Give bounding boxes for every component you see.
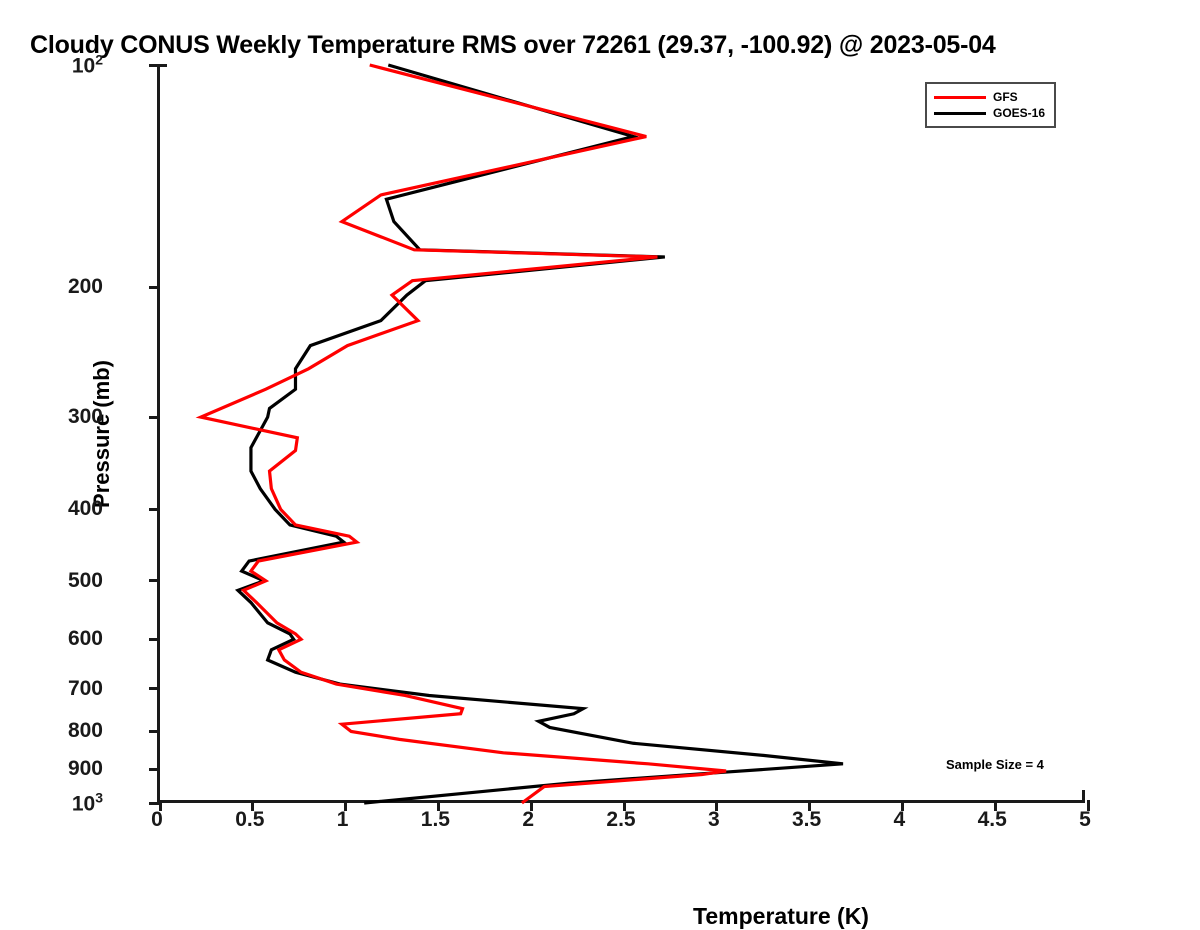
y-tick-800 xyxy=(149,730,160,733)
y-tick-label-600: 600 xyxy=(68,627,103,651)
x-axis-title: Temperature (K) xyxy=(693,903,869,930)
y-tick-label-700: 700 xyxy=(68,677,103,701)
x-tick-label-5: 5 xyxy=(1079,808,1091,832)
y-tick-label-900: 900 xyxy=(68,757,103,781)
y-tick-label-200: 200 xyxy=(68,275,103,299)
y-tick-500 xyxy=(149,579,160,582)
y-tick-200 xyxy=(149,286,160,289)
y-tick-label-400: 400 xyxy=(68,497,103,521)
y-tick-600 xyxy=(149,638,160,641)
legend-label-gfs: GFS xyxy=(993,91,1018,103)
page-title: Cloudy CONUS Weekly Temperature RMS over… xyxy=(30,31,996,60)
y-tick-100 xyxy=(149,64,160,67)
plot-area: Pressure (mb) Temperature (K) xyxy=(157,65,1085,803)
chart-page: Cloudy CONUS Weekly Temperature RMS over… xyxy=(0,0,1200,900)
legend-swatch-goes-16-icon xyxy=(934,112,986,115)
series-line-gfs xyxy=(201,65,726,803)
legend-label-goes-16: GOES-16 xyxy=(993,107,1045,119)
x-tick-label-0.5: 0.5 xyxy=(235,808,264,832)
x-tick-label-2: 2 xyxy=(522,808,534,832)
x-tick-label-2.5: 2.5 xyxy=(606,808,635,832)
legend: GFS GOES-16 xyxy=(925,82,1056,128)
legend-item-goes-16: GOES-16 xyxy=(934,105,1045,121)
y-tick-label-500: 500 xyxy=(68,569,103,593)
x-tick-label-4.5: 4.5 xyxy=(978,808,1007,832)
x-tick-label-0: 0 xyxy=(151,808,163,832)
x-tick-label-3: 3 xyxy=(708,808,720,832)
x-tick-label-3.5: 3.5 xyxy=(792,808,821,832)
y-tick-700 xyxy=(149,687,160,690)
y-tick-300 xyxy=(149,416,160,419)
y-tick-label-1000: 103 xyxy=(72,790,103,817)
y-axis-title: Pressure (mb) xyxy=(89,360,115,508)
y-tick-900 xyxy=(149,768,160,771)
y-tick-400 xyxy=(149,508,160,511)
x-tick-label-1: 1 xyxy=(337,808,349,832)
y-tick-label-100: 102 xyxy=(72,52,103,79)
x-tick-label-4: 4 xyxy=(894,808,906,832)
data-curves xyxy=(160,65,1088,803)
series-line-goes-16 xyxy=(238,65,843,803)
legend-item-gfs: GFS xyxy=(934,89,1045,105)
y-tick-label-300: 300 xyxy=(68,405,103,429)
x-tick-label-1.5: 1.5 xyxy=(421,808,450,832)
y-tick-label-800: 800 xyxy=(68,719,103,743)
sample-size-annotation: Sample Size = 4 xyxy=(946,757,1044,772)
legend-swatch-gfs-icon xyxy=(934,96,986,99)
